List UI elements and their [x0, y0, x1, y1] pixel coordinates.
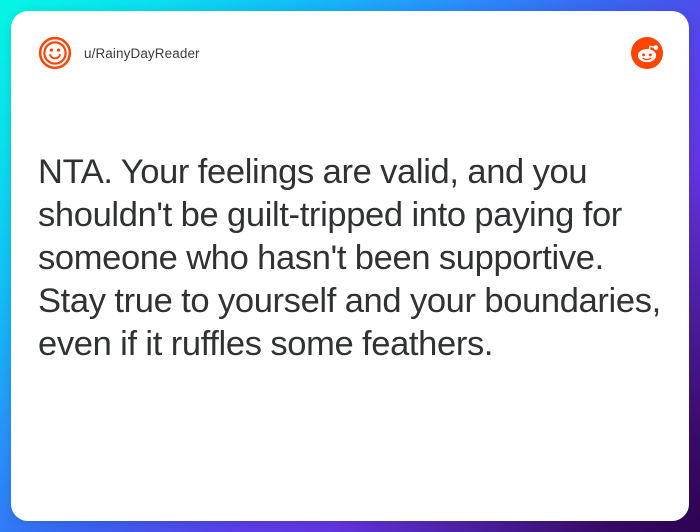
quote-text: NTA. Your feelings are valid, and you sh… — [38, 151, 665, 366]
quote-card: u/RainyDayReader NTA. Your feelings are … — [11, 11, 689, 521]
card-header: u/RainyDayReader — [11, 11, 689, 95]
smiley-face-avatar-icon[interactable] — [38, 36, 72, 70]
author-username[interactable]: u/RainyDayReader — [84, 46, 200, 61]
gradient-background: u/RainyDayReader NTA. Your feelings are … — [0, 0, 700, 532]
card-body: NTA. Your feelings are valid, and you sh… — [38, 151, 665, 366]
reddit-snoo-logo-icon[interactable] — [631, 37, 663, 69]
